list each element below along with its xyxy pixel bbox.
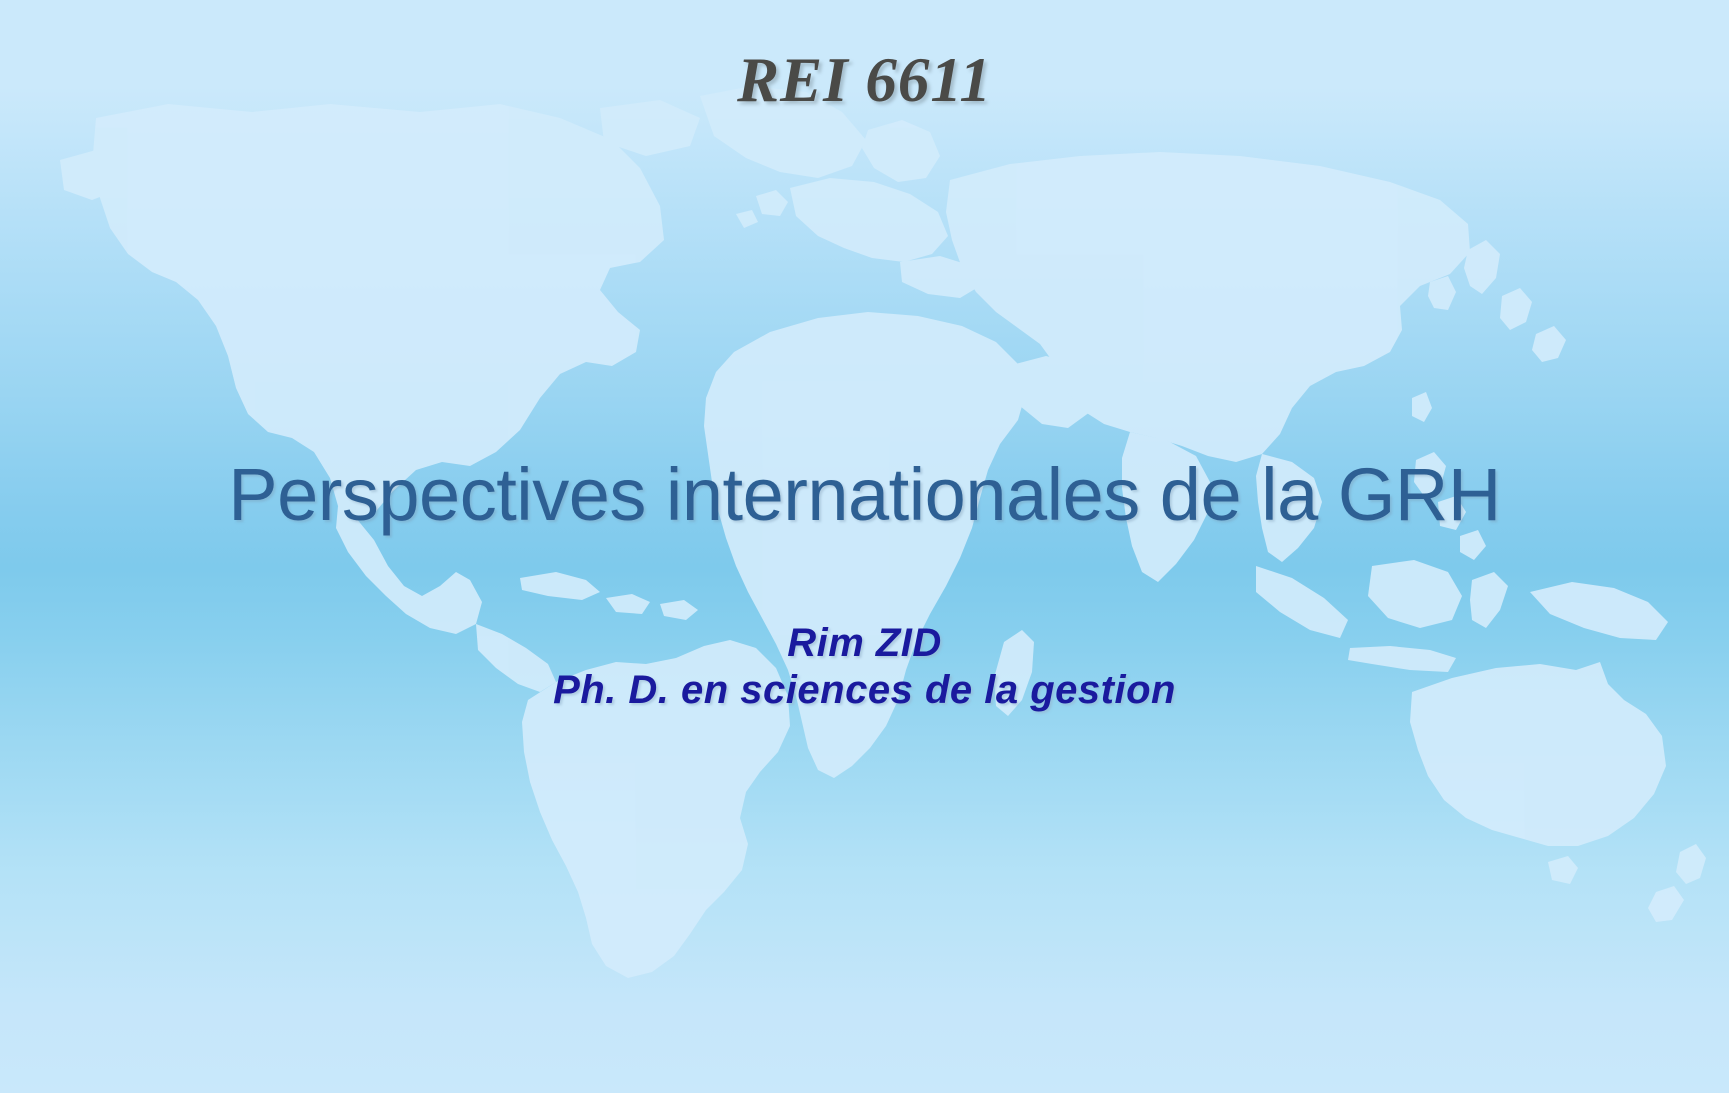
author-block: Rim ZID Ph. D. en sciences de la gestion — [0, 620, 1729, 714]
author-name: Rim ZID — [0, 620, 1729, 667]
course-code: REI 6611 — [0, 44, 1729, 117]
title-slide: REI 6611 Perspectives internationales de… — [0, 0, 1729, 1093]
slide-text-layer: REI 6611 Perspectives internationales de… — [0, 0, 1729, 1093]
page-title: Perspectives internationales de la GRH — [0, 452, 1729, 537]
author-credential: Ph. D. en sciences de la gestion — [0, 667, 1729, 714]
